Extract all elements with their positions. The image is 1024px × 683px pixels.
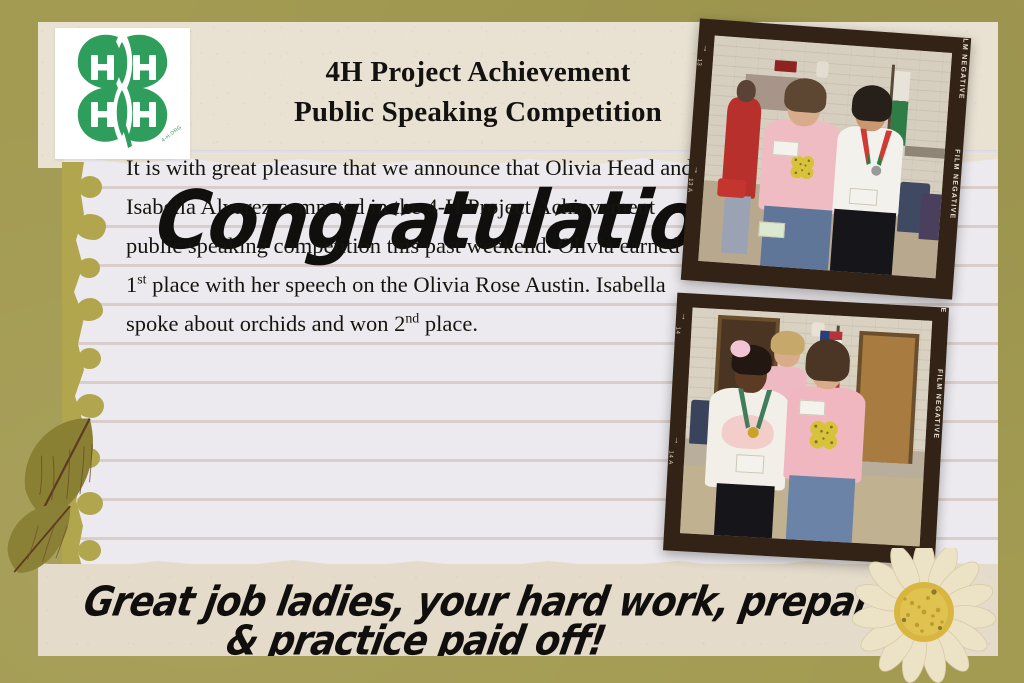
student-white-pants [830, 209, 897, 277]
title-line-2: Public Speaking Competition [218, 92, 738, 132]
body-part-2: place with her speech on the Olivia Rose… [126, 272, 666, 336]
photo-top[interactable]: FILM NEGATIVE FILM NEGATIVE 13 13 A ↓ ↓ [681, 18, 971, 299]
paper-hole-tab [76, 214, 106, 240]
film-arrow-icon: ↓ [694, 164, 699, 174]
name-badge [772, 140, 799, 157]
background-person-legs [721, 195, 751, 255]
name-badge [735, 454, 764, 474]
film-frame-number: 14 A [667, 450, 674, 465]
paper-hole-tab [78, 348, 101, 369]
ordinal-suffix-first: st [137, 273, 146, 288]
paper-hole-tab [78, 176, 102, 198]
film-arrow-icon: ↓ [702, 43, 707, 53]
page-title: 4H Project Achievement Public Speaking C… [218, 52, 738, 132]
student-sweatshirt-pants [713, 483, 774, 546]
svg-text:& practice paid off!: & practice paid off! [223, 618, 609, 656]
film-negative-label: FILM NEGATIVE [957, 29, 969, 100]
film-arrow-icon: ↓ [681, 311, 686, 321]
body-part-3: place. [419, 311, 478, 336]
film-arrow-icon: ↓ [674, 435, 679, 445]
paper-hole-tab [78, 258, 100, 278]
photo-bottom-image [680, 307, 932, 546]
title-line-1: 4H Project Achievement [325, 56, 630, 88]
name-badge [799, 400, 826, 416]
four-h-logo: 4-H.ORG [55, 28, 190, 159]
red-bin [717, 178, 746, 198]
student-pink-jeans [760, 206, 832, 273]
ordinal-suffix-second: nd [405, 312, 419, 327]
door [856, 335, 915, 464]
film-negative-label: FILM NEGATIVE [948, 149, 960, 220]
folding-chair [918, 193, 945, 241]
paper-hole-tab [77, 298, 103, 321]
photo-bottom[interactable]: FILM NEGATIVE FILM NEGATIVE 14 14 A ↓ ↓ [663, 293, 949, 566]
photo-top-image [698, 36, 952, 279]
announcement-body: It is with great pleasure that we announ… [126, 148, 696, 343]
signoff-message: Great job ladies, your hard work, prepar… [88, 570, 888, 656]
wall-light [816, 61, 829, 78]
pressed-leaf-small [0, 492, 92, 584]
student-pink-jeans [785, 475, 855, 546]
film-negative-label: FILM NEGATIVE [932, 369, 943, 440]
photo-top-scene [698, 36, 952, 279]
film-frame-number: 13 [695, 58, 702, 66]
photo-bottom-scene [680, 307, 932, 546]
pressed-daisy-flower [852, 548, 1002, 683]
name-badge [849, 188, 878, 206]
name-badge [758, 221, 785, 238]
poster-canvas: 4-H.ORG 4H Project Achievement Public Sp… [0, 0, 1024, 683]
exit-sign [774, 60, 797, 73]
film-frame-number: 14 [674, 327, 680, 335]
clover-shirt-graphic [805, 416, 843, 454]
film-frame-number: 13 A [686, 178, 693, 193]
